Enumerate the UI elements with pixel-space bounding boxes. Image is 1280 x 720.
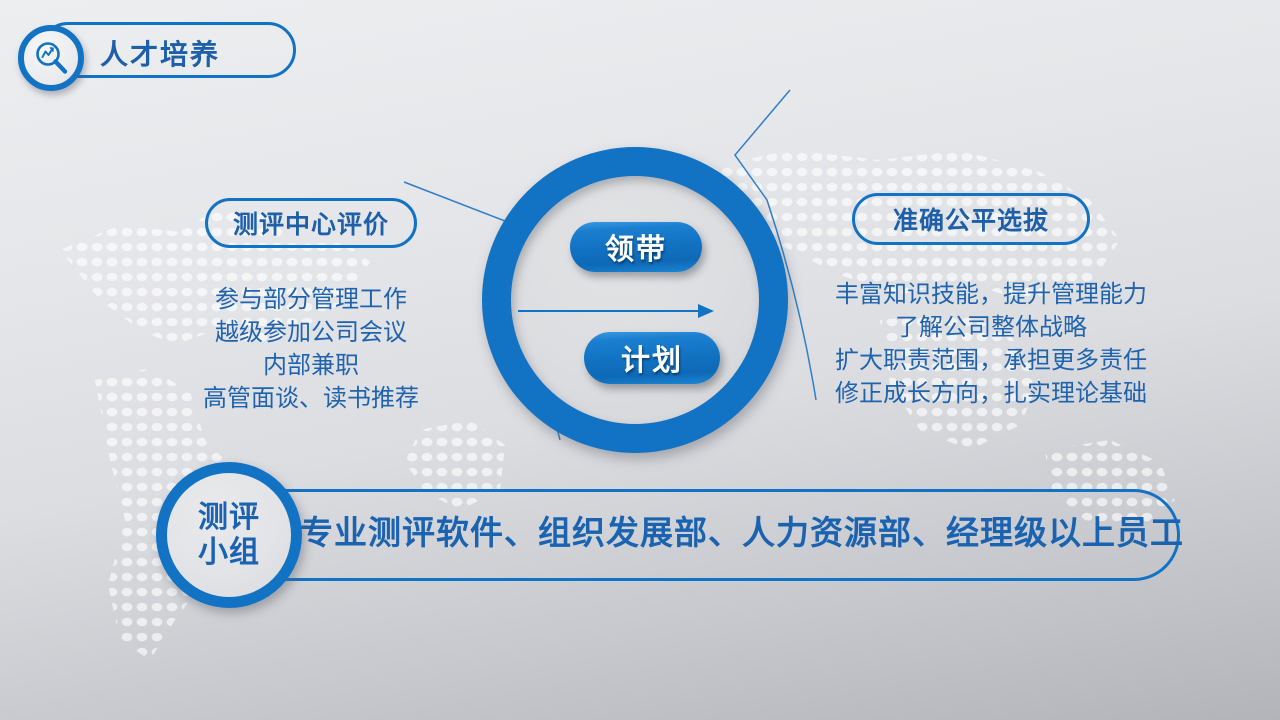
- bottom-bar-text: 专业测评软件、组织发展部、人力资源部、经理级以上员工: [300, 506, 1160, 554]
- right-block-line: 丰富知识技能，提升管理能力: [826, 278, 1156, 311]
- badge-line-2: 小组: [198, 535, 260, 570]
- header: 人才培养: [18, 22, 300, 80]
- left-block-line: 越级参加公司会议: [180, 316, 442, 349]
- right-block-line: 修正成长方向，扎实理论基础: [826, 377, 1156, 410]
- center-pill-top[interactable]: 领带: [570, 222, 702, 272]
- assessment-team-badge[interactable]: 测评 小组: [156, 462, 302, 608]
- right-arrow-icon: [512, 296, 722, 326]
- left-block-line: 内部兼职: [180, 349, 442, 382]
- right-block-line: 扩大职责范围，承担更多责任: [826, 344, 1156, 377]
- right-block-title-pill[interactable]: 准确公平选拔: [852, 193, 1090, 245]
- slide-canvas: 人才培养 领带 计划 测评中心评价 参与部分管理工作 越级参加公司会议 内部兼职…: [0, 0, 1280, 720]
- left-block-line: 参与部分管理工作: [180, 283, 442, 316]
- page-title: 人才培养: [100, 33, 220, 73]
- right-block-line: 了解公司整体战略: [826, 311, 1156, 344]
- left-block-text: 参与部分管理工作 越级参加公司会议 内部兼职 高管面谈、读书推荐: [180, 283, 442, 415]
- left-block-line: 高管面谈、读书推荐: [180, 382, 442, 415]
- left-block-title: 测评中心评价: [233, 205, 389, 241]
- badge-line-1: 测评: [198, 500, 260, 535]
- left-block-title-pill[interactable]: 测评中心评价: [205, 198, 417, 248]
- right-block-title: 准确公平选拔: [893, 201, 1049, 237]
- center-pill-bottom[interactable]: 计划: [584, 332, 720, 384]
- magnifier-chart-icon: [18, 25, 84, 91]
- right-block-text: 丰富知识技能，提升管理能力 了解公司整体战略 扩大职责范围，承担更多责任 修正成…: [826, 278, 1156, 410]
- center-pill-bottom-label: 计划: [621, 337, 683, 379]
- center-pill-top-label: 领带: [605, 226, 667, 268]
